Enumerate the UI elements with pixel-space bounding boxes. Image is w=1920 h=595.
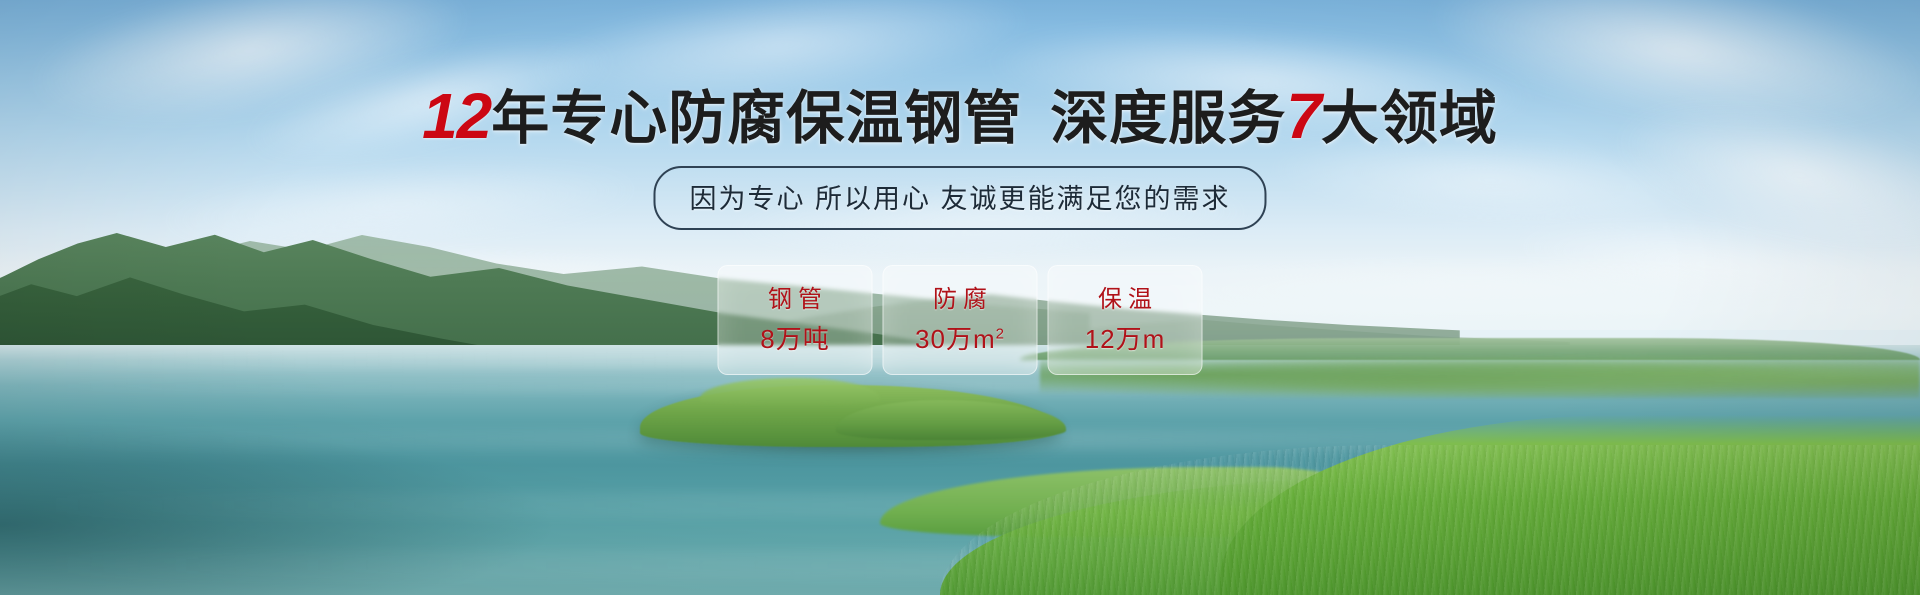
stat-value-base: 30万m (915, 324, 996, 354)
stat-value-superscript: 2 (996, 325, 1005, 342)
stat-label: 保温 (1092, 288, 1158, 312)
headline-fields-number: 7 (1286, 80, 1321, 152)
stat-value-base: 8万吨 (760, 324, 829, 354)
stat-value: 12万m (1085, 326, 1166, 352)
headline-service-text: 深度服务 (1050, 86, 1286, 151)
stat-label: 钢管 (762, 288, 828, 312)
headline-years-text: 年专心防腐保温钢管 (491, 86, 1022, 151)
stat-card-insulation: 保温 12万m (1048, 265, 1203, 375)
stats-card-group: 钢管 8万吨 防腐 30万m2 保温 12万m (718, 265, 1203, 375)
stat-value-base: 12万m (1085, 324, 1166, 354)
headline-years-number: 12 (422, 80, 491, 152)
subtitle-pill: 因为专心 所以用心 友诚更能满足您的需求 (653, 166, 1266, 230)
headline: 12年专心防腐保温钢管深度服务7大领域 (0, 84, 1920, 148)
stat-card-steel-pipe: 钢管 8万吨 (718, 265, 873, 375)
stat-value: 30万m2 (915, 326, 1005, 352)
stat-label: 防腐 (927, 288, 993, 312)
banner-content: 12年专心防腐保温钢管深度服务7大领域 因为专心 所以用心 友诚更能满足您的需求… (0, 0, 1920, 595)
stat-card-anticorrosion: 防腐 30万m2 (883, 265, 1038, 375)
headline-fields-suffix: 大领域 (1321, 86, 1498, 151)
promo-banner: 12年专心防腐保温钢管深度服务7大领域 因为专心 所以用心 友诚更能满足您的需求… (0, 0, 1920, 595)
stat-value: 8万吨 (760, 326, 829, 352)
